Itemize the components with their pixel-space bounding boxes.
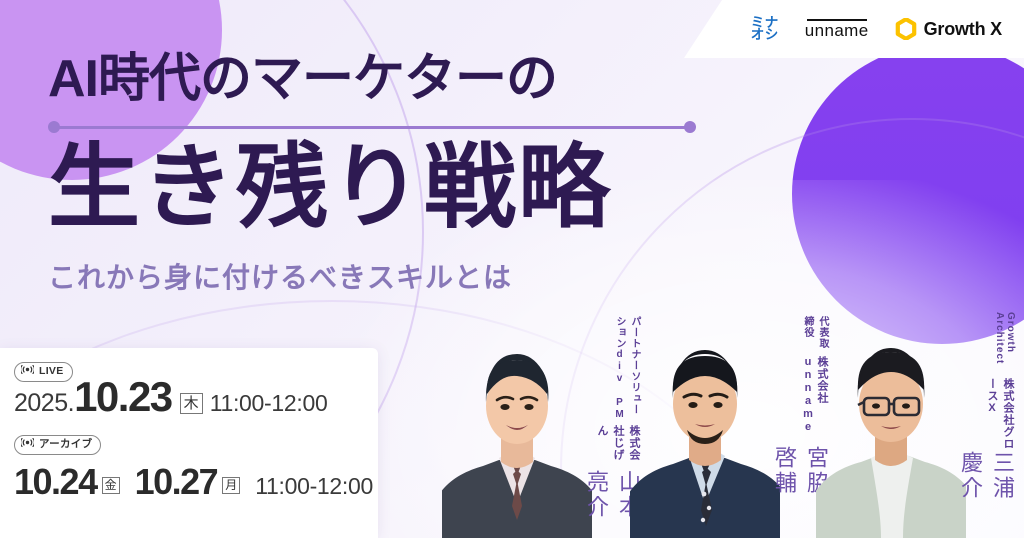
headline-subtitle: これから身に付けるべきスキルとは [48,256,708,296]
divider-dot-right [684,121,696,133]
avatar [816,308,966,538]
logo-minaoshi: ミナ オシ [751,17,779,42]
logo-growth-x-text: Growth X [924,19,1002,40]
speaker-org-3: 株式会社グロースX [954,378,1016,452]
avatar [442,308,592,538]
divider-bar [54,126,690,129]
live-time: 11:00-12:00 [210,390,328,417]
archive-badge-label: アーカイブ [39,437,92,452]
live-dateline: 2025. 10.23 木 11:00-12:00 [14,376,327,418]
headline-block: AI時代のマーケターの 生き残り戦略 これから身に付けるべきスキルとは [48,52,708,296]
archive-schedule-row: アーカイブ 10.24 金 10.27 月 11:00-12:00 [14,434,378,500]
speaker-photo-3 [816,308,966,538]
logo-unname: unname [805,19,869,39]
speaker-photo-2 [630,308,780,538]
webinar-banner: ミナ オシ unname Growth X AI時代のマーケターの 生き残り戦略… [0,0,1024,538]
archive-time: 11:00-12:00 [255,473,373,500]
live-date: 10.23 [74,376,172,418]
broadcast-icon [21,437,34,452]
speaker-name-3: 三浦 慶介 [954,451,1018,538]
archive-weekday-end: 月 [222,477,240,495]
archive-date-start: 10.24 [14,464,97,500]
archive-weekday-start: 金 [102,477,120,495]
live-year: 2025. [14,389,74,418]
logo-growth-x: Growth X [895,18,1002,40]
archive-dateline: 10.24 金 10.27 月 11:00-12:00 [14,464,378,500]
archive-date-end: 10.27 [135,464,218,500]
schedule-card: LIVE 2025. 10.23 木 11:00-12:00 [0,348,378,538]
avatar [630,308,780,538]
speaker-card-1: 山本 亮介 株式会社じげん パートナーソリューションdiv PM [442,308,592,538]
logo-minaoshi-line2: オシ [751,29,779,41]
headline-line1: AI時代のマーケターの [48,52,708,107]
headline-line2: 生き残り戦略 [48,141,708,237]
speaker-card-2: 宮脇 啓輔 株式会社unname 代表取締役 [630,308,780,538]
headline-divider [48,121,696,133]
speaker-role-3: Growth Architect [954,312,1016,378]
speaker-photo-1 [442,308,592,538]
archive-badge: アーカイブ [14,435,101,455]
live-weekday: 木 [180,393,203,414]
logo-unname-text: unname [805,22,869,39]
speaker-nameplate-3: 三浦 慶介 株式会社グロースX Growth Architect [954,312,1018,538]
speaker-group: 山本 亮介 株式会社じげん パートナーソリューションdiv PM [400,300,1024,538]
hexagon-ring-icon [895,18,917,40]
speaker-card-3: 三浦 慶介 株式会社グロースX Growth Architect [816,308,966,538]
partner-logo-bar: ミナ オシ unname Growth X [684,0,1024,58]
live-schedule-row: LIVE 2025. 10.23 木 11:00-12:00 [14,362,378,420]
